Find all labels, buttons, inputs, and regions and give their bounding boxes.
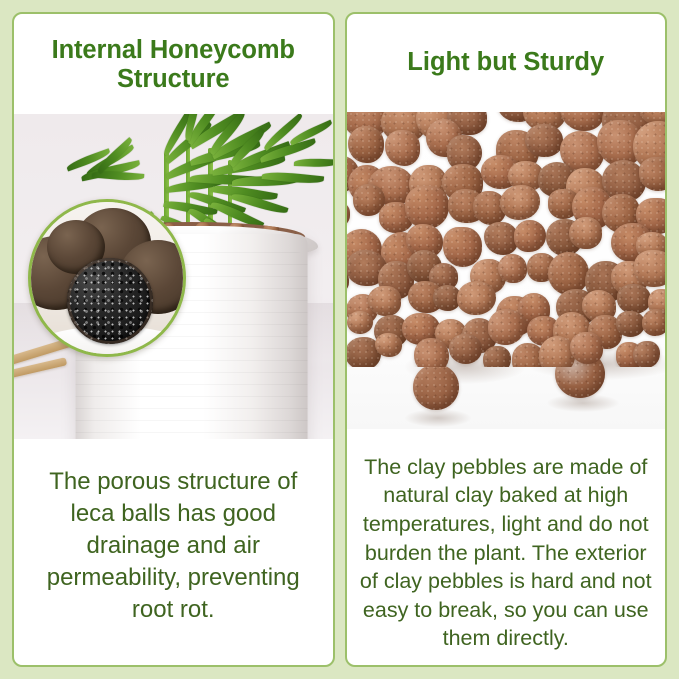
clay-pebbles-pile-photo	[347, 112, 666, 429]
pebble-pile	[347, 112, 666, 367]
clay-pebble	[642, 309, 665, 336]
panel-title-left-text: Internal Honeycomb Structure	[28, 36, 319, 93]
clay-pebble	[443, 227, 482, 267]
loose-pebble-shadow	[405, 409, 471, 427]
plant-in-white-pot-with-leca-photo	[14, 114, 333, 439]
clay-pebble	[368, 286, 401, 316]
infographic-root: Internal Honeycomb Structure	[0, 0, 679, 679]
cut-open-leca-ball-closeup-inset	[28, 199, 186, 357]
clay-pebble	[514, 220, 546, 252]
clay-pebble	[348, 126, 384, 163]
clay-pebble	[385, 130, 421, 165]
clay-pebble	[634, 250, 665, 286]
clay-pebble	[457, 281, 497, 315]
panel-title-right: Light but Sturdy	[347, 14, 666, 112]
panel-body-right: The clay pebbles are made of natural cla…	[347, 429, 666, 665]
clay-pebble	[560, 112, 605, 131]
clay-pebble	[498, 254, 527, 283]
panel-body-left: The porous structure of leca balls has g…	[14, 439, 333, 665]
clay-pebble	[405, 186, 448, 229]
cut-open-clay-ball-porous-interior	[67, 258, 153, 344]
clay-pebble	[483, 346, 511, 367]
panel-title-right-text: Light but Sturdy	[361, 48, 652, 77]
clay-pebble	[569, 217, 602, 250]
clay-pebble	[347, 311, 373, 335]
feature-card-internal-honeycomb-structure: Internal Honeycomb Structure	[12, 12, 335, 667]
clay-pebble	[639, 157, 665, 190]
clay-pebble	[488, 309, 525, 346]
clay-pebble	[375, 333, 402, 357]
clay-pebble	[347, 201, 351, 228]
loose-clay-pebble	[413, 364, 459, 410]
clay-pebble	[414, 338, 449, 367]
clay-pebble	[449, 334, 482, 363]
clay-pebble	[616, 311, 645, 337]
clay-pebble	[633, 341, 660, 367]
clay-pebble	[500, 185, 541, 220]
clay-pebble	[617, 284, 652, 314]
clay-pebble	[525, 124, 563, 157]
panel-title-left: Internal Honeycomb Structure	[14, 14, 333, 114]
clay-pebble	[484, 222, 519, 256]
clay-pebble	[570, 332, 603, 363]
feature-card-light-but-sturdy: Light but Sturdy The clay pebbles are ma…	[345, 12, 668, 667]
cut-ball-rim	[67, 258, 153, 344]
